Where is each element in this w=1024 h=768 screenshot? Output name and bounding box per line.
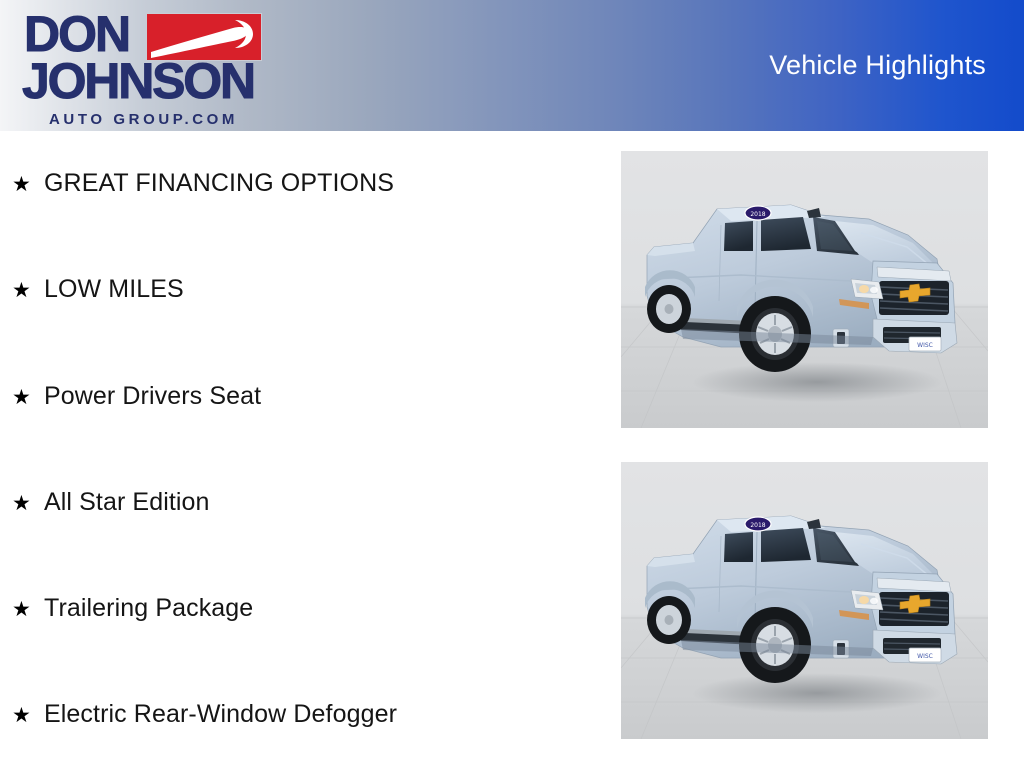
star-icon: ★	[12, 493, 44, 514]
highlight-label: GREAT FINANCING OPTIONS	[44, 169, 394, 198]
main-content: ★ GREAT FINANCING OPTIONS ★ LOW MILES ★ …	[0, 131, 1024, 768]
svg-text:2018: 2018	[750, 522, 765, 529]
vehicle-photo-image: 2018	[621, 462, 988, 739]
highlight-label: Power Drivers Seat	[44, 382, 261, 411]
highlight-label: LOW MILES	[44, 275, 184, 304]
list-item: ★ Power Drivers Seat	[12, 382, 261, 411]
vehicle-photo-2[interactable]: 2018	[621, 462, 988, 739]
list-item: ★ All Star Edition	[12, 488, 210, 517]
star-icon: ★	[12, 387, 44, 408]
star-icon: ★	[12, 599, 44, 620]
vehicle-photo-1[interactable]: 2018	[621, 151, 988, 428]
highlight-label: All Star Edition	[44, 488, 210, 517]
star-icon: ★	[12, 280, 44, 301]
list-item: ★ Trailering Package	[12, 594, 253, 623]
vehicle-photo-image: 2018	[621, 151, 988, 428]
star-icon: ★	[12, 174, 44, 195]
svg-text:2018: 2018	[750, 211, 765, 218]
star-icon: ★	[12, 705, 44, 726]
page-header: DON JOHNSON AUTO GROUP.COM Vehicle Highl…	[0, 0, 1024, 131]
highlight-label: Trailering Package	[44, 594, 253, 623]
list-item: ★ Electric Rear-Window Defogger	[12, 700, 397, 729]
highlight-label: Electric Rear-Window Defogger	[44, 700, 397, 729]
page-title: Vehicle Highlights	[769, 50, 986, 81]
list-item: ★ GREAT FINANCING OPTIONS	[12, 169, 394, 198]
svg-text:WISC: WISC	[917, 653, 933, 660]
svg-text:WISC: WISC	[917, 342, 933, 349]
list-item: ★ LOW MILES	[12, 275, 184, 304]
logo-text-johnson: JOHNSON	[22, 54, 254, 108]
dealership-logo[interactable]: DON JOHNSON AUTO GROUP.COM	[12, 6, 260, 128]
logo-tagline: AUTO GROUP.COM	[49, 111, 238, 128]
